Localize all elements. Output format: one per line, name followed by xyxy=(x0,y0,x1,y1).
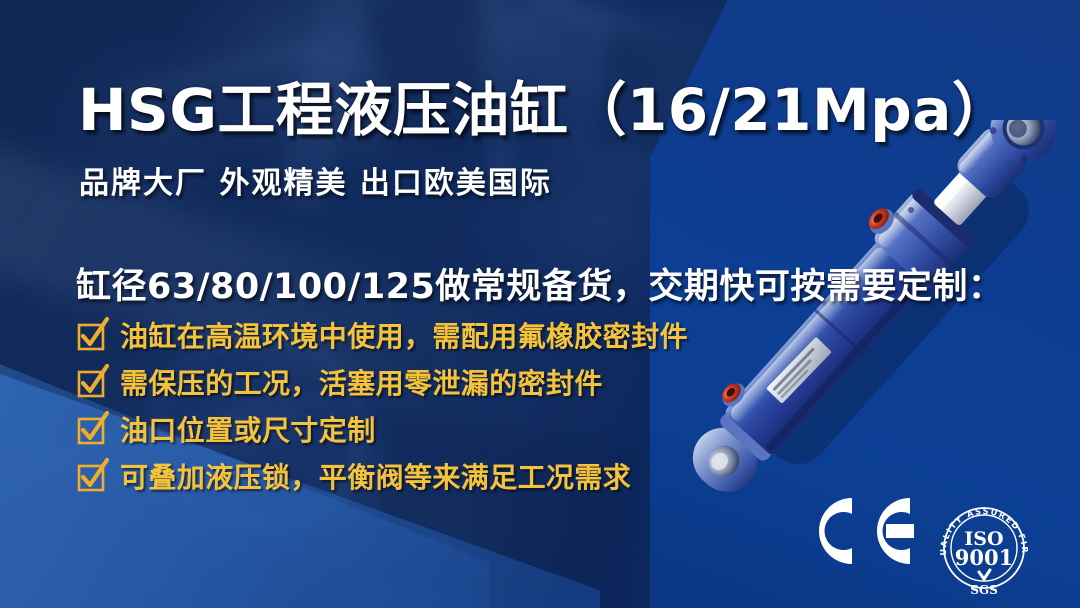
checkbox-check-icon xyxy=(76,462,106,492)
lead-line: 缸径63/80/100/125做常规备货，交期快可按需要定制： xyxy=(76,258,1003,309)
checkbox-check-icon xyxy=(76,415,106,445)
list-item-label: 可叠加液压锁，平衡阀等来满足工况需求 xyxy=(120,456,631,496)
list-item-label: 油缸在高温环境中使用，需配用氟橡胶密封件 xyxy=(120,315,688,355)
list-item-label: 油口位置或尺寸定制 xyxy=(120,409,376,449)
list-item: 油缸在高温环境中使用，需配用氟橡胶密封件 xyxy=(76,312,688,358)
page-title: HSG工程液压油缸（16/21Mpa） xyxy=(78,80,1010,141)
list-item: 油口位置或尺寸定制 xyxy=(76,406,688,452)
checkbox-check-icon xyxy=(76,321,106,351)
list-item: 可叠加液压锁，平衡阀等来满足工况需求 xyxy=(76,453,688,499)
list-item-label: 需保压的工况，活塞用零泄漏的密封件 xyxy=(120,362,603,402)
banner-content: HSG工程液压油缸（16/21Mpa） 品牌大厂 外观精美 出口欧美国际 缸径6… xyxy=(0,0,1080,608)
checkbox-check-icon xyxy=(76,368,106,398)
iso-check-icon xyxy=(979,570,990,579)
list-item: 需保压的工况，活塞用零泄漏的密封件 xyxy=(76,359,688,405)
feature-list: 油缸在高温环境中使用，需配用氟橡胶密封件 需保压的工况，活塞用零泄漏的密封件 xyxy=(76,312,688,500)
iso-center-bottom: 9001 xyxy=(955,545,1013,570)
page-subtitle: 品牌大厂 外观精美 出口欧美国际 xyxy=(79,158,552,202)
ce-mark-icon xyxy=(806,492,918,570)
promo-banner: HSG工程液压油缸（16/21Mpa） 品牌大厂 外观精美 出口欧美国际 缸径6… xyxy=(0,0,1080,608)
iso-9001-seal-icon: QUALITY ASSURED FIRM ISO 9001 SGS xyxy=(930,496,1038,604)
iso-footer-sgs: SGS xyxy=(970,583,998,597)
